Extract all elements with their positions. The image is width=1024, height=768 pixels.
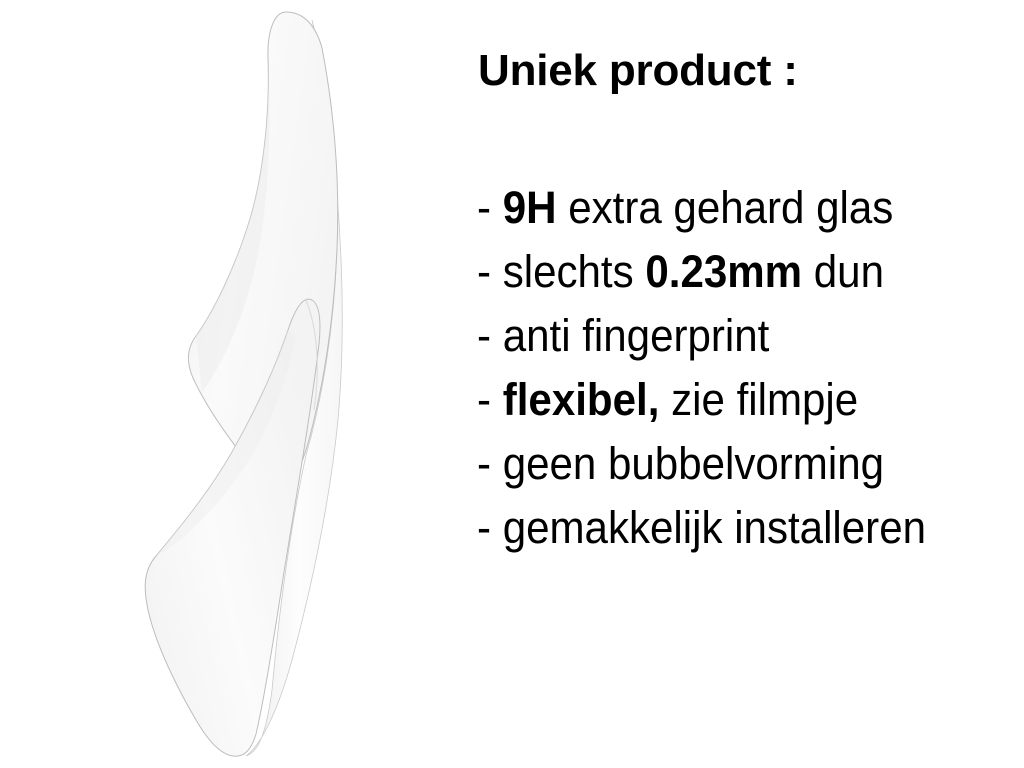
feature-text: gemakkelijk installeren bbox=[503, 502, 926, 553]
list-item: - flexibel, zie filmpje bbox=[477, 368, 989, 432]
feature-highlight: 0.23mm bbox=[645, 246, 802, 297]
feature-text: zie filmpje bbox=[659, 374, 858, 425]
list-bullet-dash: - bbox=[477, 438, 503, 489]
list-bullet-dash: - bbox=[477, 310, 503, 361]
text-panel: Uniek product : - 9H extra gehard glas -… bbox=[470, 0, 1024, 768]
list-item: - slechts 0.23mm dun bbox=[477, 240, 989, 304]
list-item: - anti fingerprint bbox=[477, 304, 989, 368]
list-bullet-dash: - bbox=[477, 374, 503, 425]
list-bullet-dash: - bbox=[477, 246, 503, 297]
list-item: - geen bubbelvorming bbox=[477, 432, 989, 496]
product-image-tempered-glass bbox=[0, 0, 460, 768]
feature-highlight: 9H bbox=[503, 182, 557, 233]
list-item: - 9H extra gehard glas bbox=[477, 176, 989, 240]
page-title: Uniek product : bbox=[478, 48, 798, 94]
feature-text: anti fingerprint bbox=[503, 310, 770, 361]
feature-text: dun bbox=[802, 246, 884, 297]
list-bullet-dash: - bbox=[477, 182, 503, 233]
feature-text: extra gehard glas bbox=[557, 182, 894, 233]
feature-text: geen bubbelvorming bbox=[503, 438, 884, 489]
feature-list: - 9H extra gehard glas - slechts 0.23mm … bbox=[477, 176, 1024, 560]
product-info-slide: Uniek product : - 9H extra gehard glas -… bbox=[0, 0, 1024, 768]
list-item: - gemakkelijk installeren bbox=[477, 496, 989, 560]
feature-highlight: flexibel, bbox=[503, 374, 660, 425]
list-bullet-dash: - bbox=[477, 502, 503, 553]
feature-text: slechts bbox=[503, 246, 646, 297]
